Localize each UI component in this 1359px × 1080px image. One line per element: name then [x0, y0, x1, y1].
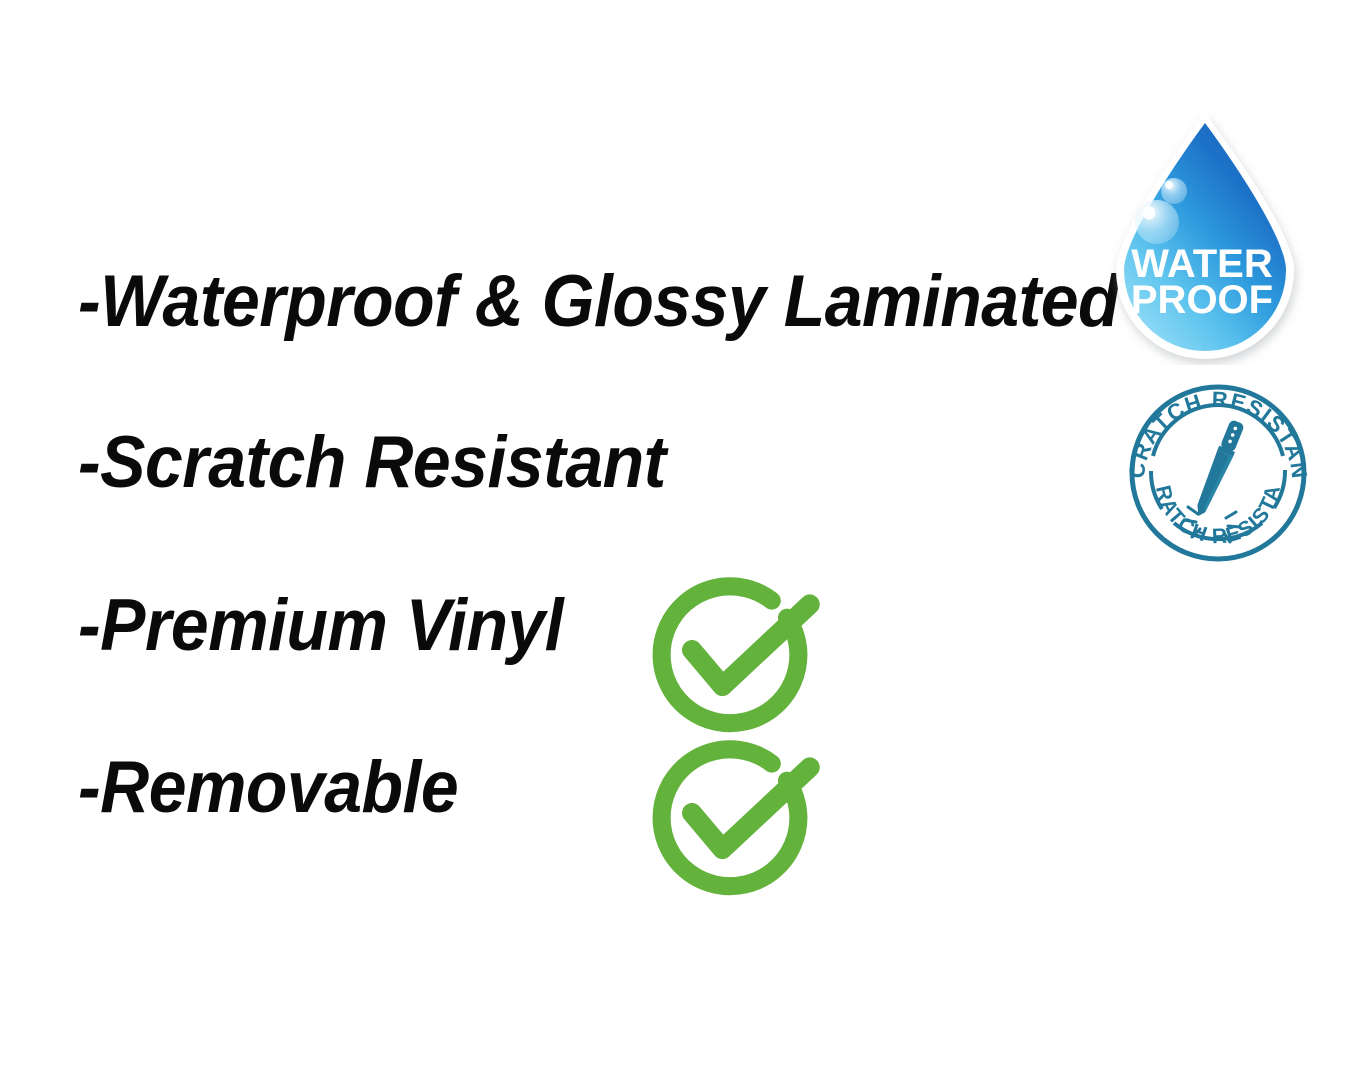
feature-label-waterproof: -Waterproof & Glossy Laminated [78, 254, 1119, 350]
feature-label-removable: -Removable [78, 740, 458, 836]
promo-feature-graphic: -Waterproof & Glossy Laminated -Scratch … [0, 0, 1359, 1080]
check-circle-icon [635, 555, 825, 745]
list-item: -Scratch Resistant [78, 415, 710, 511]
waterproof-badge: WATER PROOF [1098, 105, 1313, 365]
feature-label-premium-vinyl: -Premium Vinyl [78, 578, 563, 674]
list-item: -Premium Vinyl [78, 578, 600, 674]
feature-label-scratch-resistant: -Scratch Resistant [78, 415, 666, 511]
check-circle-icon [635, 718, 825, 908]
list-item: -Waterproof & Glossy Laminated [78, 254, 1197, 350]
scratch-resistant-badge: SCRATCH RESISTANT SCRATCH RESISTANT [1112, 378, 1324, 568]
list-item: -Removable [78, 740, 487, 836]
knife-icon [1192, 419, 1246, 520]
waterproof-line2: PROOF [1131, 278, 1273, 322]
